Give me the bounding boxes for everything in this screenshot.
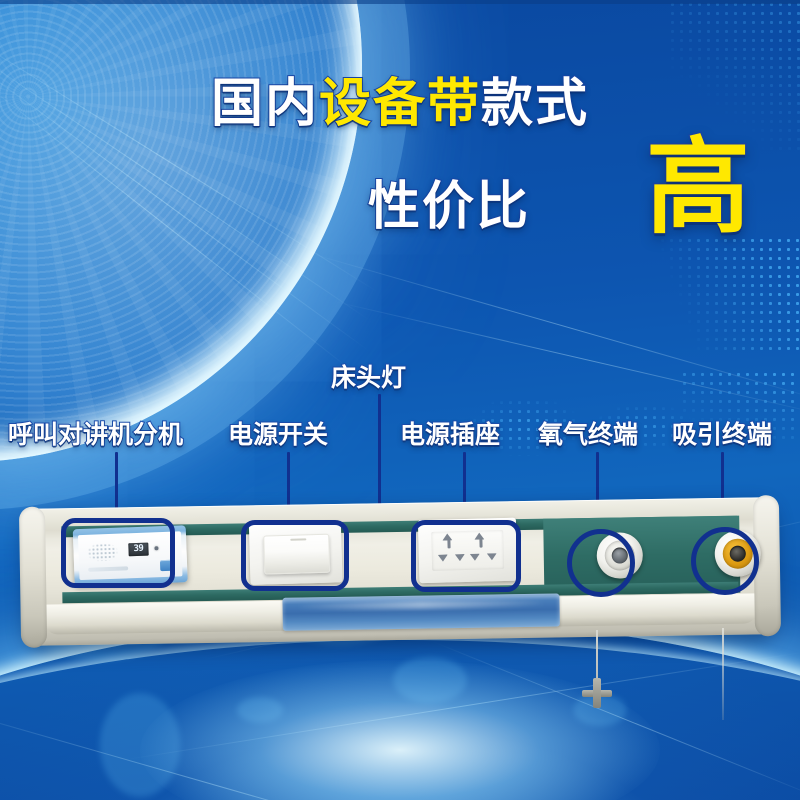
secondary-cord [722, 628, 724, 720]
headline-block: 国内设备带款式 [0, 78, 800, 130]
callout-label-bedside-lamp: 床头灯 [331, 358, 406, 394]
callout-label-oxygen-terminal: 氧气终端 [538, 415, 638, 451]
highlight-box-power-socket [411, 520, 521, 592]
halftone-dots-right [640, 236, 800, 356]
highlight-circle-suction [691, 527, 759, 595]
headline-line-1: 国内设备带款式 [0, 78, 800, 130]
headline-text-white-b: 款式 [481, 75, 589, 133]
callout-label-power-switch: 电源开关 [228, 415, 328, 451]
headline-emphasis-char: 高 [646, 136, 750, 240]
headline-text-yellow: 设备带 [319, 75, 481, 133]
highlight-box-power-switch [241, 520, 349, 591]
unit-endcap-left [19, 507, 47, 648]
banner-stage: 国内设备带款式 性价比 高 呼叫对讲机分机 电源开关 床头灯 电源插座 氧气终端… [0, 0, 800, 800]
highlight-box-intercom [61, 518, 175, 588]
headline-text-white-a: 国内 [211, 75, 319, 133]
callout-label-intercom: 呼叫对讲机分机 [8, 415, 183, 451]
cord-cross-terminal-icon [582, 678, 612, 708]
top-edge-bar [0, 0, 800, 4]
highlight-circle-oxygen [567, 529, 635, 597]
callout-label-suction-terminal: 吸引终端 [672, 415, 772, 451]
headline-line-2: 性价比 [368, 164, 530, 239]
bedside-lamp-diffuser[interactable] [282, 593, 559, 630]
callout-label-power-socket: 电源插座 [400, 415, 500, 451]
